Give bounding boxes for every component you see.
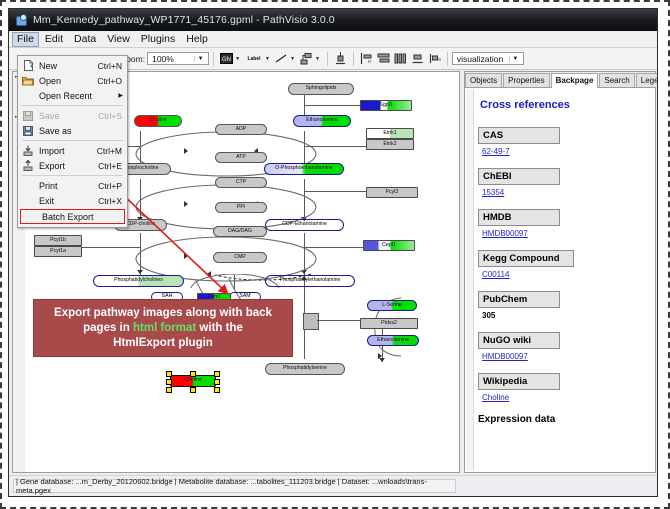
new-document-icon [20, 59, 36, 72]
file-menu-label: Export [39, 161, 98, 171]
pathway-node[interactable]: Pcyt2 [366, 187, 418, 198]
common-width-icon[interactable] [410, 51, 425, 66]
xref-value-kegg[interactable]: C00114 [482, 270, 652, 279]
pathway-node[interactable]: CDP-Ethanolamine [265, 219, 344, 231]
import-icon [20, 144, 36, 157]
file-menu-item-new[interactable]: New Ctrl+N [18, 58, 127, 73]
file-menu-accel: Ctrl+E [98, 161, 122, 171]
menu-data[interactable]: Data [69, 32, 101, 47]
pathway-node[interactable]: Ptdss2 [360, 318, 418, 329]
xref-db-hmdb: HMDB [478, 209, 560, 226]
xref-link-cas[interactable]: 62-49-7 [482, 147, 510, 156]
bring-to-front-icon[interactable]: o [427, 51, 442, 66]
xref-db-nugo: NuGO wiki [478, 332, 560, 349]
resize-handle[interactable] [214, 379, 220, 385]
file-menu-item-print[interactable]: Print Ctrl+P [18, 178, 127, 193]
pathway-node[interactable]: Phosphatidylethanolamine [265, 275, 355, 287]
svg-text:o: o [438, 57, 441, 63]
annotation-line-3: HtmlExport plugin [113, 336, 213, 351]
menu-bar: File Edit Data View Plugins Help [9, 31, 657, 48]
arrow-icon [379, 358, 385, 362]
side-panel-tabs: Objects Properties Backpage Search Legen… [465, 72, 655, 88]
zoom-combobox[interactable]: 100% ▼ [147, 52, 209, 65]
xref-db-wikipedia: Wikipedia [478, 373, 560, 390]
file-menu-label: Save as [39, 126, 122, 136]
cross-references-title: Cross references [480, 99, 652, 111]
file-menu-item-import[interactable]: Import Ctrl+M [18, 143, 127, 158]
blank-icon [20, 179, 36, 192]
menu-edit[interactable]: Edit [40, 32, 68, 47]
file-menu-label: Exit [39, 196, 98, 206]
datanode-tool-button[interactable]: GN [219, 51, 234, 66]
arrow-icon [184, 148, 188, 154]
pathway-node[interactable]: Sphingolipids [288, 83, 354, 95]
xref-value-cas[interactable]: 62-49-7 [482, 147, 652, 156]
edge [317, 320, 335, 321]
file-menu-label: Save [39, 111, 98, 121]
align-left-icon[interactable]: o [359, 51, 374, 66]
xref-value-hmdb[interactable]: HMDB00097 [482, 229, 652, 238]
window-title-bar: Mm_Kennedy_pathway_WP1771_45176.gpml - P… [9, 9, 657, 32]
xref-value-pubchem: 305 [482, 311, 652, 320]
svg-text:o: o [368, 59, 371, 65]
file-menu-accel: Ctrl+P [98, 181, 122, 191]
backpage-gutter [466, 89, 474, 471]
align-top-icon[interactable] [333, 51, 348, 66]
save-disk-icon [20, 109, 36, 122]
resize-handle[interactable] [214, 387, 220, 393]
side-panel: Objects Properties Backpage Search Legen… [464, 71, 656, 473]
tab-legend[interactable]: Legend [636, 73, 658, 87]
file-menu-label: New [39, 61, 98, 71]
datanode-dropdown-icon[interactable]: ▼ [235, 56, 240, 62]
visualization-combobox[interactable]: visualization ▼ [452, 52, 524, 65]
label-tool-button[interactable]: Label [244, 51, 264, 66]
pathway-node[interactable]: L-Serine [367, 300, 417, 311]
annotation-line-1: Export pathway images along with back [54, 306, 272, 321]
xref-db-cas: CAS [478, 127, 560, 144]
menu-plugins[interactable]: Plugins [136, 32, 180, 47]
pathway-node[interactable]: ADP [215, 124, 267, 135]
backpage-body: Cross references CAS 62-49-7 ChEBI 15354… [466, 89, 654, 471]
pathway-node[interactable]: Choline [134, 115, 182, 127]
resize-handle[interactable] [166, 379, 172, 385]
file-menu-label: Open Recent [39, 91, 118, 101]
pathway-node[interactable]: Ethanolamine [367, 335, 419, 346]
annotation-line-2: pages in html format with the [83, 321, 243, 336]
menu-separator [22, 175, 123, 176]
pathvisio-window: Mm_Kennedy_pathway_WP1771_45176.gpml - P… [8, 8, 658, 497]
pathway-node[interactable]: Pcyt1a [34, 246, 82, 257]
xref-link-chebi[interactable]: 15354 [482, 188, 504, 197]
line-tool-button[interactable] [274, 51, 289, 66]
file-menu-label: Open [39, 76, 97, 86]
expression-data-title: Expression data [478, 414, 652, 425]
file-menu-label: Import [39, 146, 97, 156]
pathway-node[interactable]: Cept1 [363, 240, 415, 251]
distribute-icon[interactable] [393, 51, 408, 66]
menu-separator [22, 140, 123, 141]
pathway-node[interactable]: Etnk1 [366, 128, 414, 139]
file-menu-label: Batch Export [42, 212, 124, 222]
xref-db-kegg: Kegg Compound [478, 250, 574, 267]
file-menu-popup[interactable]: New Ctrl+N Open Ctrl+O Open Recent ▶ Sav… [17, 55, 128, 228]
xref-db-chebi: ChEBI [478, 168, 560, 185]
window-title: Mm_Kennedy_pathway_WP1771_45176.gpml - P… [33, 14, 335, 26]
blank-icon [23, 210, 39, 223]
file-menu-item-batch-export[interactable]: Batch Export [20, 209, 125, 224]
xref-link-hmdb[interactable]: HMDB00097 [482, 229, 528, 238]
file-menu-label: Print [39, 181, 98, 191]
annotation-highlight: html format [133, 322, 196, 334]
resize-handle[interactable] [166, 387, 172, 393]
visualization-value: visualization [455, 54, 509, 64]
status-bar: | Gene database: ...m_Derby_20120602.bri… [9, 475, 657, 496]
chevron-right-icon: ▶ [118, 92, 123, 99]
label-dropdown-icon[interactable]: ▼ [265, 56, 270, 62]
interaction-dropdown-icon[interactable]: ▼ [315, 56, 320, 62]
resize-handle[interactable] [166, 371, 172, 377]
tab-search[interactable]: Search [599, 73, 634, 87]
save-as-icon [20, 124, 36, 137]
xref-value-wikipedia[interactable]: Choline [482, 393, 652, 402]
export-icon [20, 159, 36, 172]
chevron-down-icon: ▼ [194, 56, 206, 62]
pathway-node[interactable]: CTP [215, 177, 267, 188]
zoom-value: 100% [150, 54, 194, 64]
pathway-anchor-box[interactable] [303, 313, 319, 330]
pathway-node-selected[interactable]: Choline [170, 375, 216, 387]
file-menu-item-save: Save Ctrl+S [18, 108, 127, 123]
interaction-tool-button[interactable] [299, 51, 314, 66]
annotation-line-2-a: pages in [83, 322, 133, 334]
chevron-down-icon: ▼ [509, 56, 521, 62]
edge [304, 105, 366, 106]
xref-value-nugo[interactable]: HMDB00097 [482, 352, 652, 361]
pathvisio-app-icon [15, 14, 27, 26]
file-menu-accel: Ctrl+M [97, 146, 122, 156]
line-dropdown-icon[interactable]: ▼ [290, 56, 295, 62]
annotation-arrow [117, 189, 247, 304]
blank-icon [20, 194, 36, 207]
pathway-node[interactable]: Ethanolamine [293, 115, 351, 127]
annotation-banner: Export pathway images along with back pa… [33, 299, 293, 357]
cross-references-content: Cross references CAS 62-49-7 ChEBI 15354… [476, 89, 652, 471]
file-menu-accel: Ctrl+O [97, 76, 122, 86]
xref-value-chebi[interactable]: 15354 [482, 188, 652, 197]
tab-backpage[interactable]: Backpage [551, 73, 599, 88]
file-menu-accel: Ctrl+S [98, 111, 122, 121]
menu-view[interactable]: View [102, 32, 135, 47]
xref-link-nugo[interactable]: HMDB00097 [482, 352, 528, 361]
pathway-node[interactable]: Phosphatidylserine [265, 363, 345, 375]
resize-handle[interactable] [214, 371, 220, 377]
file-menu-accel: Ctrl+X [98, 196, 122, 206]
file-menu-item-open-recent[interactable]: Open Recent ▶ [18, 88, 127, 103]
align-stack-icon[interactable] [376, 51, 391, 66]
svg-text:GN: GN [222, 57, 231, 63]
menu-help[interactable]: Help [181, 32, 213, 47]
annotation-line-2-b: with the [196, 322, 243, 334]
pathway-node[interactable]: Pcyt1b [34, 235, 82, 246]
xref-link-kegg[interactable]: C00114 [482, 270, 509, 279]
pathway-node[interactable]: O-Phosphoethanolamine [264, 163, 344, 175]
file-menu-accel: Ctrl+N [98, 61, 122, 71]
file-menu-item-exit[interactable]: Exit Ctrl+X [18, 193, 127, 208]
pathway-node[interactable]: ATP [215, 152, 267, 163]
pathway-node[interactable]: Etnk2 [366, 139, 414, 150]
xref-db-pubchem: PubChem [478, 291, 560, 308]
open-folder-icon [20, 74, 36, 87]
menu-separator [22, 105, 123, 106]
tab-objects[interactable]: Objects [465, 73, 502, 87]
file-menu-item-save-as[interactable]: Save as [18, 123, 127, 138]
file-menu-item-export[interactable]: Export Ctrl+E [18, 158, 127, 173]
blank-icon [20, 89, 36, 102]
menu-file[interactable]: File [12, 32, 39, 47]
pathway-node[interactable]: Sgpl1 [360, 100, 412, 111]
tab-properties[interactable]: Properties [503, 73, 549, 87]
status-bar-text: | Gene database: ...m_Derby_20120602.bri… [13, 479, 456, 493]
xref-link-wikipedia[interactable]: Choline [482, 393, 509, 402]
file-menu-item-open[interactable]: Open Ctrl+O [18, 73, 127, 88]
resize-handle[interactable] [190, 387, 196, 393]
